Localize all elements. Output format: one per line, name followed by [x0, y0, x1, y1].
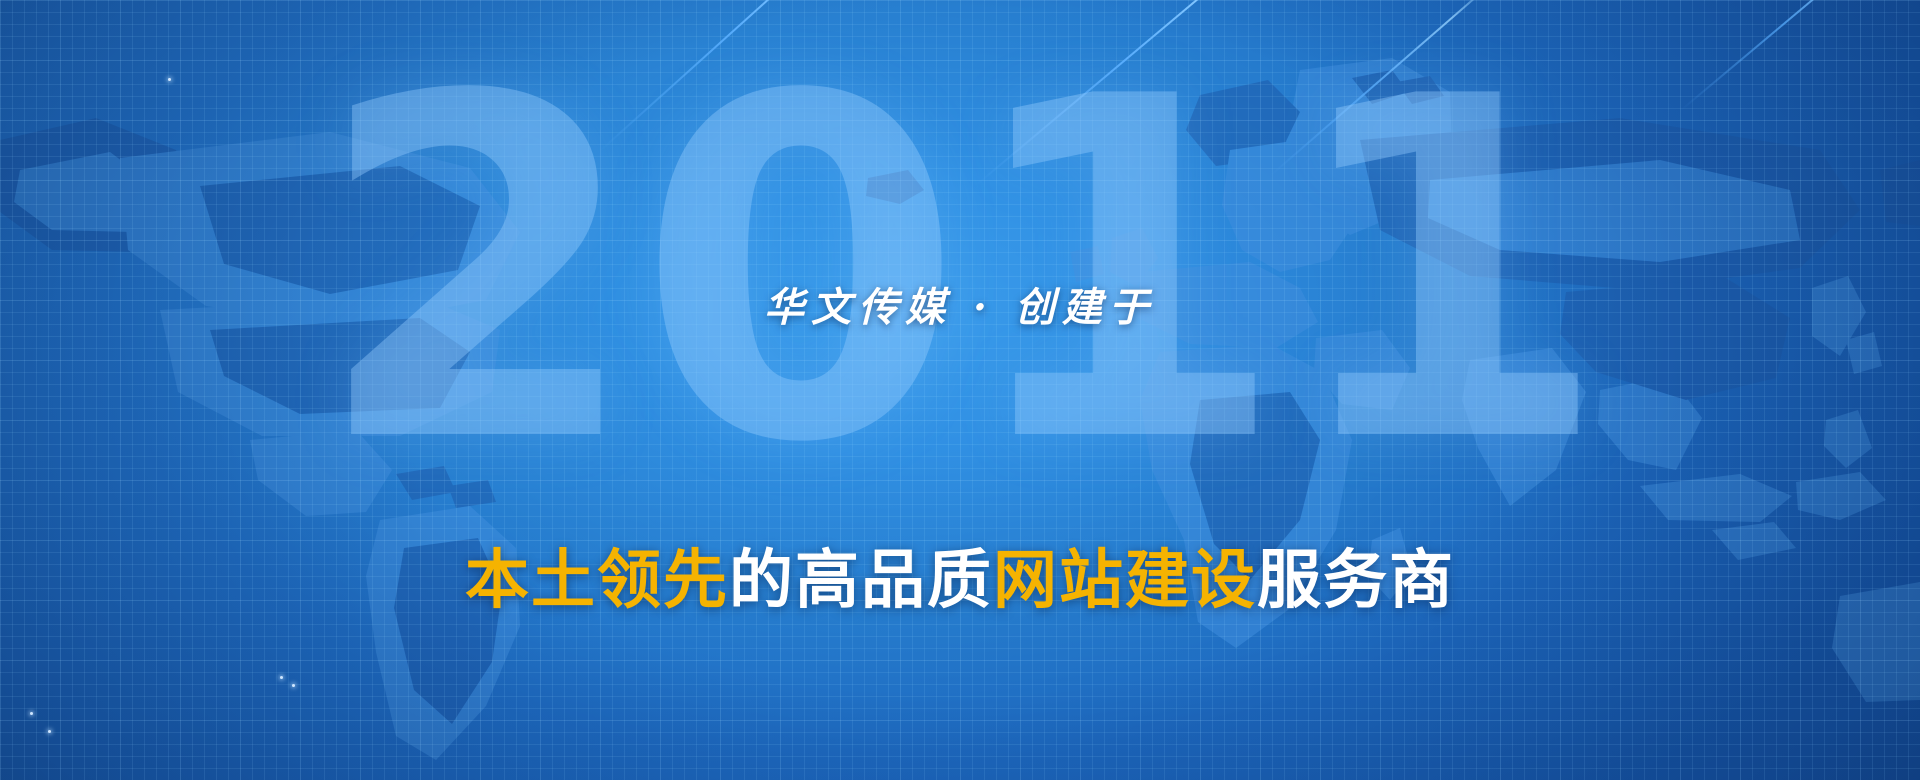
headline-segment-3: 网站建设 — [993, 544, 1257, 618]
headline-segment-2: 的高品质 — [729, 544, 993, 618]
banner-headline: 本土领先的高品质网站建设服务商 — [0, 549, 1920, 613]
headline-segment-1: 本土领先 — [465, 544, 729, 618]
sparkle-dot-icon — [280, 676, 283, 679]
headline-segment-4: 服务商 — [1257, 544, 1455, 618]
banner-hero: 2011 华文传媒 · 创建于 本土领先的高品质网站建设服务商 — [0, 0, 1920, 780]
sparkle-dot-icon — [292, 684, 295, 687]
year-watermark: 2011 — [0, 56, 1920, 488]
sparkle-dot-icon — [30, 712, 33, 715]
sparkle-dot-icon — [48, 730, 51, 733]
banner-subtitle: 华文传媒 · 创建于 — [0, 275, 1920, 333]
